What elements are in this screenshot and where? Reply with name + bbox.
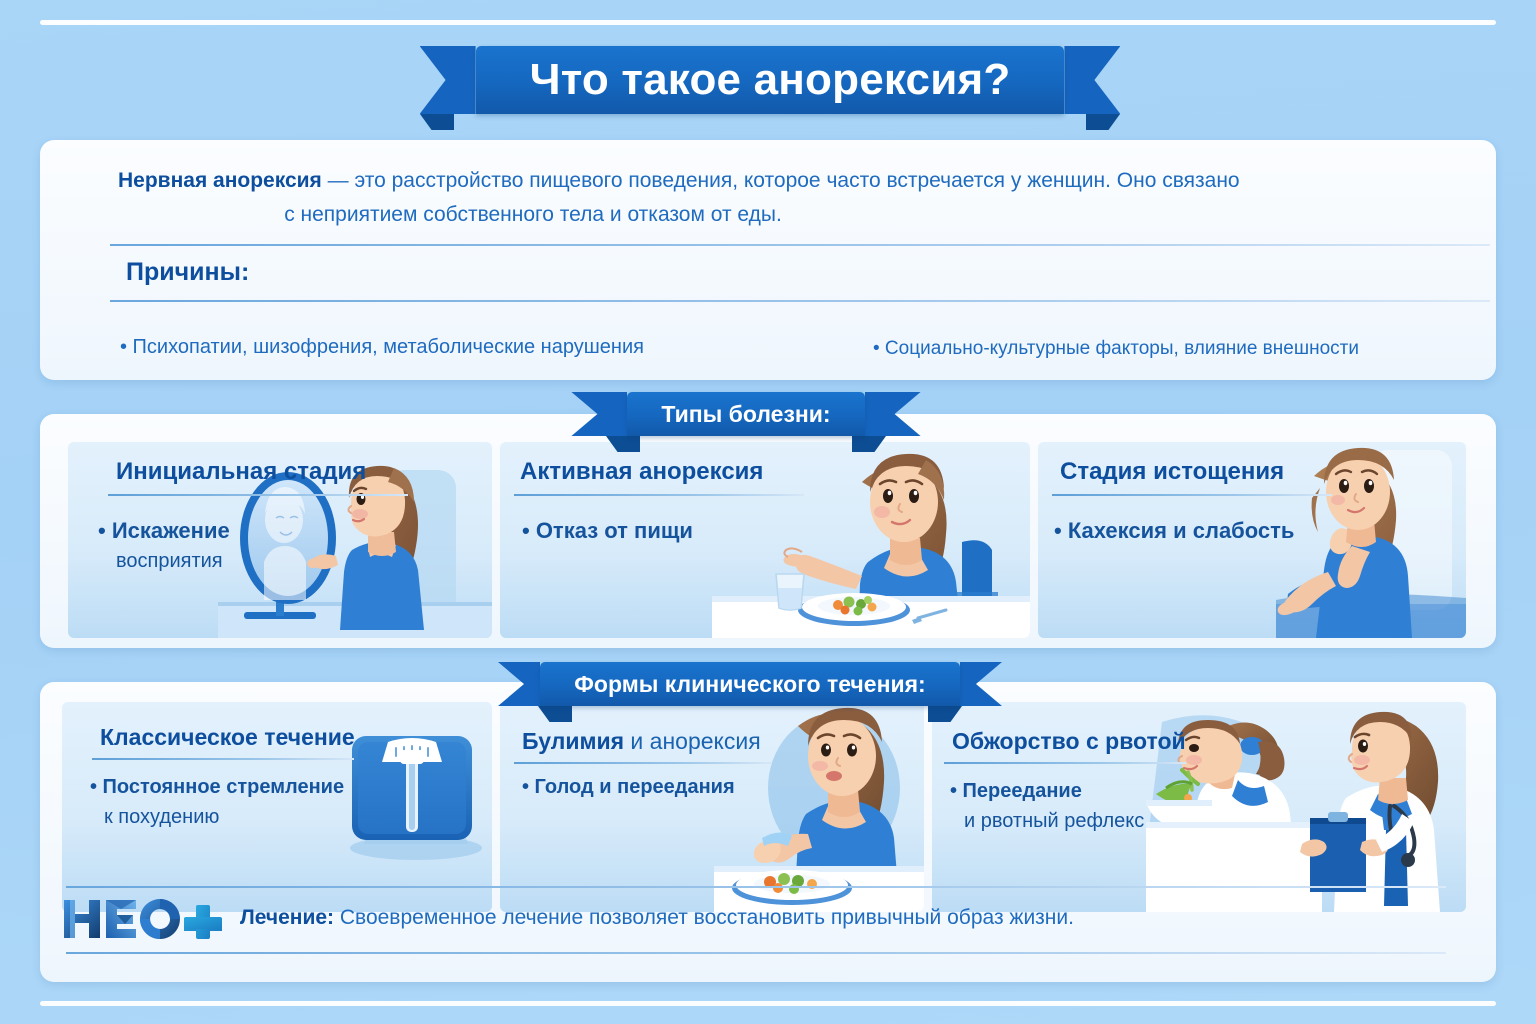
form-card-1-bullet: • Постоянное стремление к похудению	[90, 772, 344, 832]
form-card-2-title: Булимия и анорексия	[522, 728, 761, 755]
form-card-2-divider	[514, 762, 772, 764]
form-card-classic-course: Классическое течение • Постоянное стремл…	[62, 702, 492, 912]
form-card-1-title: Классическое течение	[100, 724, 355, 751]
footer-treatment-body: Своевременное лечение позволяет восстано…	[334, 906, 1074, 929]
ribbon-tail-right	[1064, 46, 1120, 114]
footer-treatment-text: Лечение: Своевременное лечение позволяет…	[240, 906, 1074, 930]
footer-divider-top	[66, 886, 1446, 888]
intro-lead-term: Нервная анорексия	[118, 169, 322, 192]
type-card-initial-stage: Инициальная стадия • Искажение восприяти…	[68, 442, 492, 638]
forms-ribbon-tail-right	[960, 662, 1002, 706]
intro-panel: Нервная анорексия — это расстройство пищ…	[40, 140, 1496, 380]
intro-divider-bottom	[110, 300, 1490, 302]
type-card-3-title: Стадия истощения	[1060, 458, 1284, 486]
type-card-active-anorexia: Активная анорексия • Отказ от пищи	[500, 442, 1030, 638]
forms-ribbon-tail-left	[498, 662, 540, 706]
woman-vomiting-doctor-illustration	[1146, 702, 1466, 912]
form-card-3-title: Обжорство с рвотой	[952, 728, 1186, 755]
ribbon-fold-right	[1086, 114, 1120, 130]
top-divider-rule	[40, 20, 1496, 25]
type-card-1-title: Инициальная стадия	[116, 458, 366, 486]
types-ribbon-tail-right	[865, 392, 921, 436]
intro-line-1: — это расстройство пищевого поведения, к…	[322, 169, 1240, 192]
intro-line-2: с неприятием собственного тела и отказом…	[78, 198, 1458, 232]
type-card-3-bullet: • Кахексия и слабость	[1054, 518, 1294, 544]
form-card-3-bullet: • Переедание и рвотный рефлекс	[950, 776, 1144, 836]
bottom-divider-rule	[40, 1001, 1496, 1006]
type-card-exhaustion-stage: Стадия истощения • Кахексия и слабость	[1038, 442, 1466, 638]
page-title-ribbon: Что такое анорексия?	[380, 46, 1160, 114]
type-card-1-bullet: • Искажение восприятия	[98, 516, 230, 576]
types-ribbon-label: Типы болезни:	[627, 392, 864, 436]
neo-plus-logo	[62, 896, 222, 942]
footer-treatment-label: Лечение:	[240, 906, 334, 929]
type-card-2-divider	[514, 494, 804, 496]
woman-weak-sitting-illustration	[1276, 442, 1466, 638]
intro-divider-top	[110, 244, 1490, 246]
form-card-2-bullet: • Голод и переедания	[522, 776, 735, 799]
footer-divider-bottom	[66, 952, 1446, 954]
forms-section-ribbon: Формы клинического течения:	[498, 662, 1002, 706]
cause-item-1: • Психопатии, шизофрения, метаболические…	[120, 336, 644, 359]
form-card-bulimia: Булимия и анорексия • Голод и переедания	[500, 702, 924, 912]
causes-heading: Причины:	[126, 258, 249, 287]
page-title: Что такое анорексия?	[476, 46, 1065, 114]
form-card-binge-vomiting: Обжорство с рвотой • Переедание и рвотны…	[932, 702, 1466, 912]
cause-item-2: • Социально-культурные факторы, влияние …	[873, 338, 1359, 360]
intro-paragraph: Нервная анорексия — это расстройство пищ…	[78, 164, 1458, 232]
type-card-2-bullet: • Отказ от пищи	[522, 518, 693, 544]
type-card-1-divider	[108, 494, 408, 496]
ribbon-tail-left	[420, 46, 476, 114]
type-card-3-divider	[1052, 494, 1332, 496]
type-card-2-title: Активная анорексия	[520, 458, 763, 486]
ribbon-fold-left	[420, 114, 454, 130]
types-section-ribbon: Типы болезни:	[566, 392, 926, 436]
forms-ribbon-label: Формы клинического течения:	[540, 662, 959, 706]
form-card-3-divider	[944, 762, 1186, 764]
form-card-1-divider	[92, 758, 354, 760]
types-ribbon-tail-left	[571, 392, 627, 436]
